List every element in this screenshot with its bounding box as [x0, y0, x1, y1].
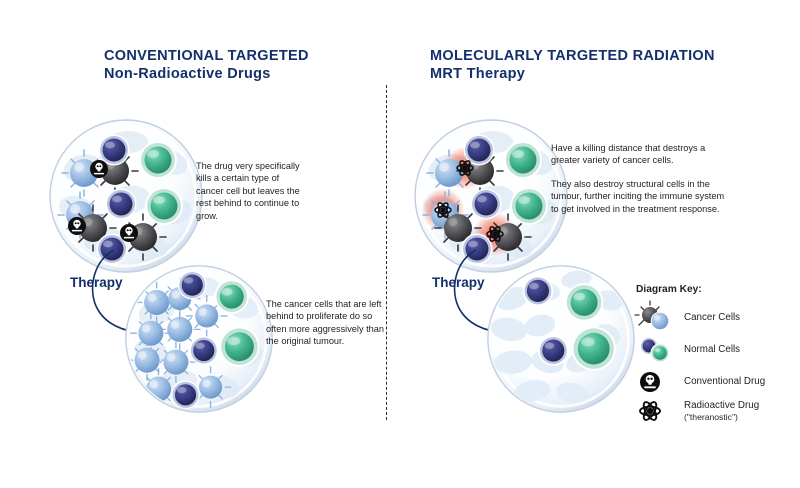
legend-label-conventional-drug: Conventional Drug [684, 376, 765, 388]
normal-cell-green [145, 187, 183, 225]
radioactive-drug-icon [640, 400, 660, 422]
right-therapy-label: Therapy [432, 275, 485, 290]
left-caption-top: The drug very specifically kills a certa… [196, 160, 308, 222]
normal-cell-green [504, 141, 542, 179]
diagram-key-title: Diagram Key: [636, 284, 796, 295]
normal-cell-green [565, 283, 604, 322]
right-caption-top-2: They also destroy structural cells in th… [551, 178, 729, 215]
normal-cell-green [219, 326, 259, 366]
cancer-cells-swatch [636, 303, 676, 333]
panel-divider [386, 85, 387, 420]
left-caption-bottom-text: The cancer cells that are left behind to… [266, 298, 384, 348]
normal-cell-blue [189, 336, 218, 365]
right-caption-top-1: Have a killing distance that destroys a … [551, 142, 729, 167]
diagram-canvas: CONVENTIONAL TARGETED Non-Radioactive Dr… [0, 0, 800, 488]
right-panel-title: MOLECULARLY TARGETED RADIATION MRT Thera… [430, 48, 715, 83]
normal-cell-blue [106, 189, 137, 220]
normal-cell-blue [171, 380, 200, 409]
right-title-line1: MOLECULARLY TARGETED RADIATION [430, 48, 715, 65]
normal-cell-green-icon [650, 343, 669, 362]
conventional-drug-icon [640, 372, 660, 392]
normal-cell-green [139, 141, 177, 179]
conventional-drug-icon [68, 217, 86, 235]
normal-cell-blue [523, 275, 554, 306]
right-dish-after [484, 262, 638, 416]
left-therapy-label: Therapy [70, 275, 123, 290]
normal-cell-green [572, 326, 616, 370]
conventional-drug-icon [120, 224, 138, 242]
legend-item-radioactive-drug: Radioactive Drug ("theranostic") [636, 398, 796, 432]
legend-label-radioactive-drug-sub: ("theranostic") [684, 412, 759, 424]
left-dish-after [122, 262, 276, 416]
left-caption-bottom: The cancer cells that are left behind to… [266, 298, 384, 348]
diagram-key: Diagram Key: C [636, 284, 796, 432]
normal-cell-blue [471, 189, 502, 220]
right-caption-top: Have a killing distance that destroys a … [551, 142, 729, 215]
legend-item-cancer-cells: Cancer Cells [636, 302, 796, 334]
legend-label-normal-cells: Normal Cells [684, 344, 740, 356]
normal-cell-green [510, 187, 548, 225]
radioactive-drug-swatch [636, 398, 676, 428]
normal-cell-blue [538, 335, 569, 366]
left-title-line1: CONVENTIONAL TARGETED [104, 48, 309, 65]
normal-cell-blue [178, 271, 207, 300]
cancer-cell-light-icon [651, 312, 670, 331]
legend-label-radioactive-drug-main: Radioactive Drug [684, 400, 759, 411]
right-title-line2: MRT Therapy [430, 65, 715, 83]
conventional-drug-icon [90, 160, 108, 178]
normal-cell-blue [99, 135, 130, 166]
left-panel-title: CONVENTIONAL TARGETED Non-Radioactive Dr… [104, 48, 309, 83]
left-caption-top-text: The drug very specifically kills a certa… [196, 160, 308, 222]
left-title-line2: Non-Radioactive Drugs [104, 65, 309, 83]
legend-label-radioactive-drug: Radioactive Drug ("theranostic") [684, 400, 759, 423]
legend-item-normal-cells: Normal Cells [636, 334, 796, 366]
legend-label-cancer-cells: Cancer Cells [684, 312, 740, 324]
normal-cell-green [214, 279, 249, 314]
normal-cells-swatch [636, 335, 676, 365]
conventional-drug-swatch [636, 367, 676, 397]
legend-item-conventional-drug: Conventional Drug [636, 366, 796, 398]
